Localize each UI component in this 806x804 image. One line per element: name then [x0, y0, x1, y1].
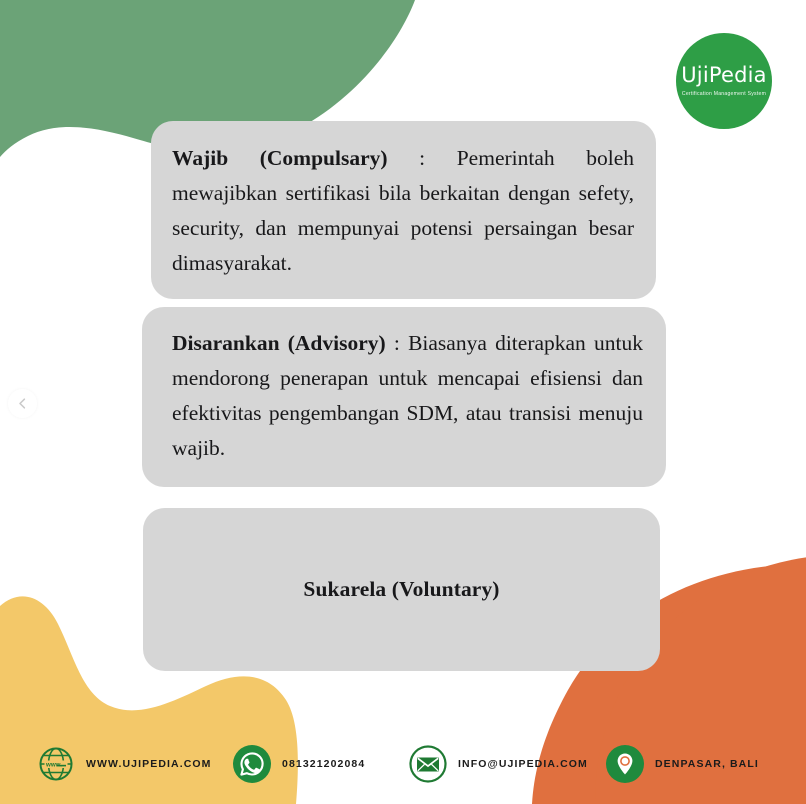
card-advisory-text: Disarankan (Advisory) : Biasanya diterap…: [172, 326, 643, 466]
card-advisory: Disarankan (Advisory) : Biasanya diterap…: [142, 307, 666, 487]
card-compulsary-title: Wajib (Compulsary): [172, 146, 388, 170]
contact-item-whatsapp[interactable]: 081321202084: [232, 744, 365, 784]
card-advisory-title: Disarankan (Advisory): [172, 331, 386, 355]
contact-label-web: WWW.UJIPEDIA.COM: [86, 758, 212, 770]
slide-canvas: UjiPedia Certification Management System…: [0, 0, 806, 804]
contact-label-email: INFO@UJIPEDIA.COM: [458, 758, 588, 770]
logo-tagline: Certification Management System: [682, 91, 766, 97]
contact-label-whatsapp: 081321202084: [282, 758, 365, 770]
card-voluntary-title: Sukarela (Voluntary): [303, 577, 499, 602]
card-compulsary: Wajib (Compulsary) : Pemerintah boleh me…: [151, 121, 656, 299]
logo-wordmark: UjiPedia: [681, 65, 767, 86]
contact-label-location: DENPASAR, BALI: [655, 758, 759, 770]
carousel-prev-button[interactable]: [8, 389, 37, 418]
contact-bar: www. WWW.UJIPEDIA.COM 081321202084 INFO@…: [0, 734, 806, 804]
contact-item-web[interactable]: www. WWW.UJIPEDIA.COM: [36, 744, 212, 784]
map-pin-icon: [605, 744, 645, 784]
card-compulsary-separator: :: [388, 146, 457, 170]
card-compulsary-text: Wajib (Compulsary) : Pemerintah boleh me…: [172, 141, 634, 281]
card-voluntary: Sukarela (Voluntary): [143, 508, 660, 671]
contact-item-location[interactable]: DENPASAR, BALI: [605, 744, 759, 784]
whatsapp-icon: [232, 744, 272, 784]
globe-icon: www.: [36, 744, 76, 784]
brand-logo: UjiPedia Certification Management System: [676, 33, 772, 129]
contact-item-email[interactable]: INFO@UJIPEDIA.COM: [408, 744, 588, 784]
chevron-left-icon: [16, 397, 29, 410]
card-advisory-separator: :: [386, 331, 408, 355]
card-stack: Wajib (Compulsary) : Pemerintah boleh me…: [0, 0, 806, 804]
envelope-icon: [408, 744, 448, 784]
